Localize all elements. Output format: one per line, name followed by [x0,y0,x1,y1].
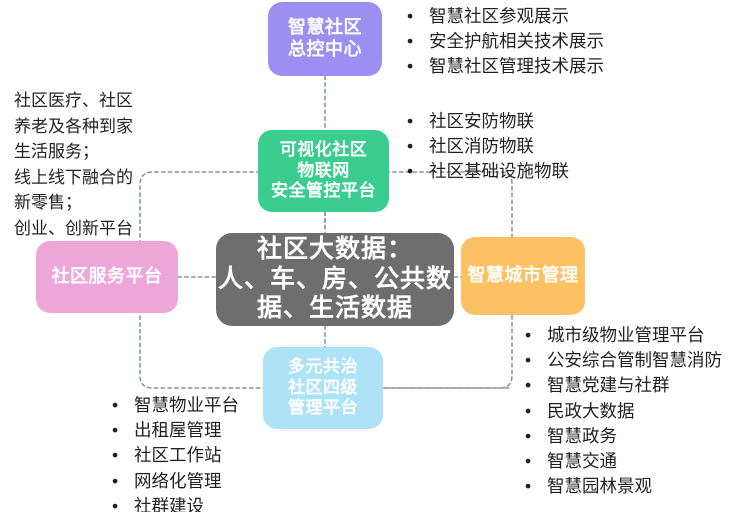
list-item-label: 社区工作站 [134,445,222,465]
annotation-bottom-right-list: •城市级物业管理平台 •公安综合管制智慧消防 •智慧党建与社群 •民政大数据 •… [521,323,722,499]
annotation-green-right: •社区安防物联 •社区消防物联 •社区基础设施物联 [403,109,569,185]
list-item: •社区工作站 [108,443,239,468]
node-center-line-3: 据、生活数据 [216,294,454,324]
annotation-left-line-5: 新零售； [14,190,133,216]
bullet-icon: • [525,323,531,348]
list-item: •出租屋管理 [108,418,239,443]
list-item-label: 社区消防物联 [429,136,534,156]
annotation-left-line-1: 社区医疗、社区 [14,88,133,114]
bullet-icon: • [112,443,118,468]
node-blue-line-2: 社区四级 [263,378,383,399]
annotation-green-right-list: •社区安防物联 •社区消防物联 •社区基础设施物联 [403,109,569,185]
node-green-line-2: 物联网 [258,161,389,182]
bullet-icon: • [525,449,531,474]
node-visual-community-iot-platform[interactable]: 可视化社区 物联网 安全管控平台 [258,130,389,212]
list-item-label: 智慧交通 [547,451,617,471]
annotation-left-line-3: 生活服务； [14,139,133,165]
node-community-big-data[interactable]: 社区大数据： 人、车、房、公共数 据、生活数据 [216,233,454,326]
annotation-bottom-right: •城市级物业管理平台 •公安综合管制智慧消防 •智慧党建与社群 •民政大数据 •… [521,323,722,499]
bullet-icon: • [407,134,413,159]
bullet-icon: • [407,54,413,79]
list-item: •智慧党建与社群 [521,373,722,398]
bullet-icon: • [407,4,413,29]
list-item-label: 智慧党建与社群 [547,375,670,395]
node-blue-line-1: 多元共治 [263,357,383,378]
node-blue-label: 多元共治 社区四级 管理平台 [263,357,383,419]
list-item: •智慧物业平台 [108,393,239,418]
diagram-canvas: 社区大数据： 人、车、房、公共数 据、生活数据 智慧社区 总控中心 可视化社区 … [0,0,740,512]
annotation-left-line-6: 创业、创新平台 [14,216,133,242]
list-item: •智慧社区参观展示 [403,4,604,29]
annotation-left: 社区医疗、社区 养老及各种到家 生活服务； 线上线下融合的 新零售； 创业、创新… [14,88,133,241]
annotation-top-right: •智慧社区参观展示 •安全护航相关技术展示 •智慧社区管理技术展示 [403,4,604,80]
annotation-bottom-left-list: •智慧物业平台 •出租屋管理 •社区工作站 •网络化管理 •社群建设 [108,393,239,512]
node-center-line-2: 人、车、房、公共数 [216,265,454,295]
bullet-icon: • [407,29,413,54]
bullet-icon: • [112,494,118,512]
node-smart-community-control-center[interactable]: 智慧社区 总控中心 [268,2,382,76]
list-item-label: 公安综合管制智慧消防 [547,350,722,370]
node-green-label: 可视化社区 物联网 安全管控平台 [258,140,389,202]
bullet-icon: • [525,424,531,449]
list-item: •安全护航相关技术展示 [403,29,604,54]
list-item-label: 出租屋管理 [134,420,222,440]
node-community-service-platform[interactable]: 社区服务平台 [36,241,178,313]
list-item: •社区基础设施物联 [403,159,569,184]
list-item: •社区消防物联 [403,134,569,159]
list-item-label: 智慧社区参观展示 [429,6,569,26]
list-item-label: 民政大数据 [547,401,635,421]
node-top-line-2: 总控中心 [268,39,382,61]
bullet-icon: • [525,373,531,398]
annotation-top-right-list: •智慧社区参观展示 •安全护航相关技术展示 •智慧社区管理技术展示 [403,4,604,80]
list-item: •网络化管理 [108,469,239,494]
annotation-bottom-left: •智慧物业平台 •出租屋管理 •社区工作站 •网络化管理 •社群建设 [108,393,239,512]
list-item-label: 安全护航相关技术展示 [429,31,604,51]
list-item: •智慧政务 [521,424,722,449]
list-item-label: 智慧园林景观 [547,476,652,496]
node-orange-label: 智慧城市管理 [461,265,585,287]
list-item-label: 智慧物业平台 [134,395,239,415]
bullet-icon: • [112,418,118,443]
bullet-icon: • [407,159,413,184]
list-item-label: 社区基础设施物联 [429,161,569,181]
list-item: •智慧园林景观 [521,474,722,499]
bullet-icon: • [525,348,531,373]
bullet-icon: • [407,109,413,134]
bullet-icon: • [112,393,118,418]
node-four-level-governance-platform[interactable]: 多元共治 社区四级 管理平台 [263,347,383,429]
list-item: •智慧交通 [521,449,722,474]
list-item-label: 社区安防物联 [429,111,534,131]
annotation-left-line-4: 线上线下融合的 [14,165,133,191]
node-pink-label: 社区服务平台 [36,266,178,288]
list-item: •城市级物业管理平台 [521,323,722,348]
bullet-icon: • [525,399,531,424]
list-item-label: 智慧政务 [547,426,617,446]
node-center-line-1: 社区大数据： [216,235,454,265]
node-blue-line-3: 管理平台 [263,398,383,419]
list-item: •公安综合管制智慧消防 [521,348,722,373]
node-center-label: 社区大数据： 人、车、房、公共数 据、生活数据 [216,235,454,324]
node-pink-line-1: 社区服务平台 [36,266,178,288]
list-item: •社区安防物联 [403,109,569,134]
list-item-label: 网络化管理 [134,471,222,491]
node-green-line-3: 安全管控平台 [258,181,389,202]
node-green-line-1: 可视化社区 [258,140,389,161]
node-smart-city-management[interactable]: 智慧城市管理 [461,237,585,315]
list-item-label: 城市级物业管理平台 [547,325,705,345]
bullet-icon: • [525,474,531,499]
list-item: •社群建设 [108,494,239,512]
list-item: •民政大数据 [521,399,722,424]
node-orange-line-1: 智慧城市管理 [461,265,585,287]
node-top-label: 智慧社区 总控中心 [268,17,382,61]
node-top-line-1: 智慧社区 [268,17,382,39]
bullet-icon: • [112,469,118,494]
list-item-label: 社群建设 [134,496,204,512]
annotation-left-line-2: 养老及各种到家 [14,114,133,140]
list-item: •智慧社区管理技术展示 [403,54,604,79]
list-item-label: 智慧社区管理技术展示 [429,56,604,76]
